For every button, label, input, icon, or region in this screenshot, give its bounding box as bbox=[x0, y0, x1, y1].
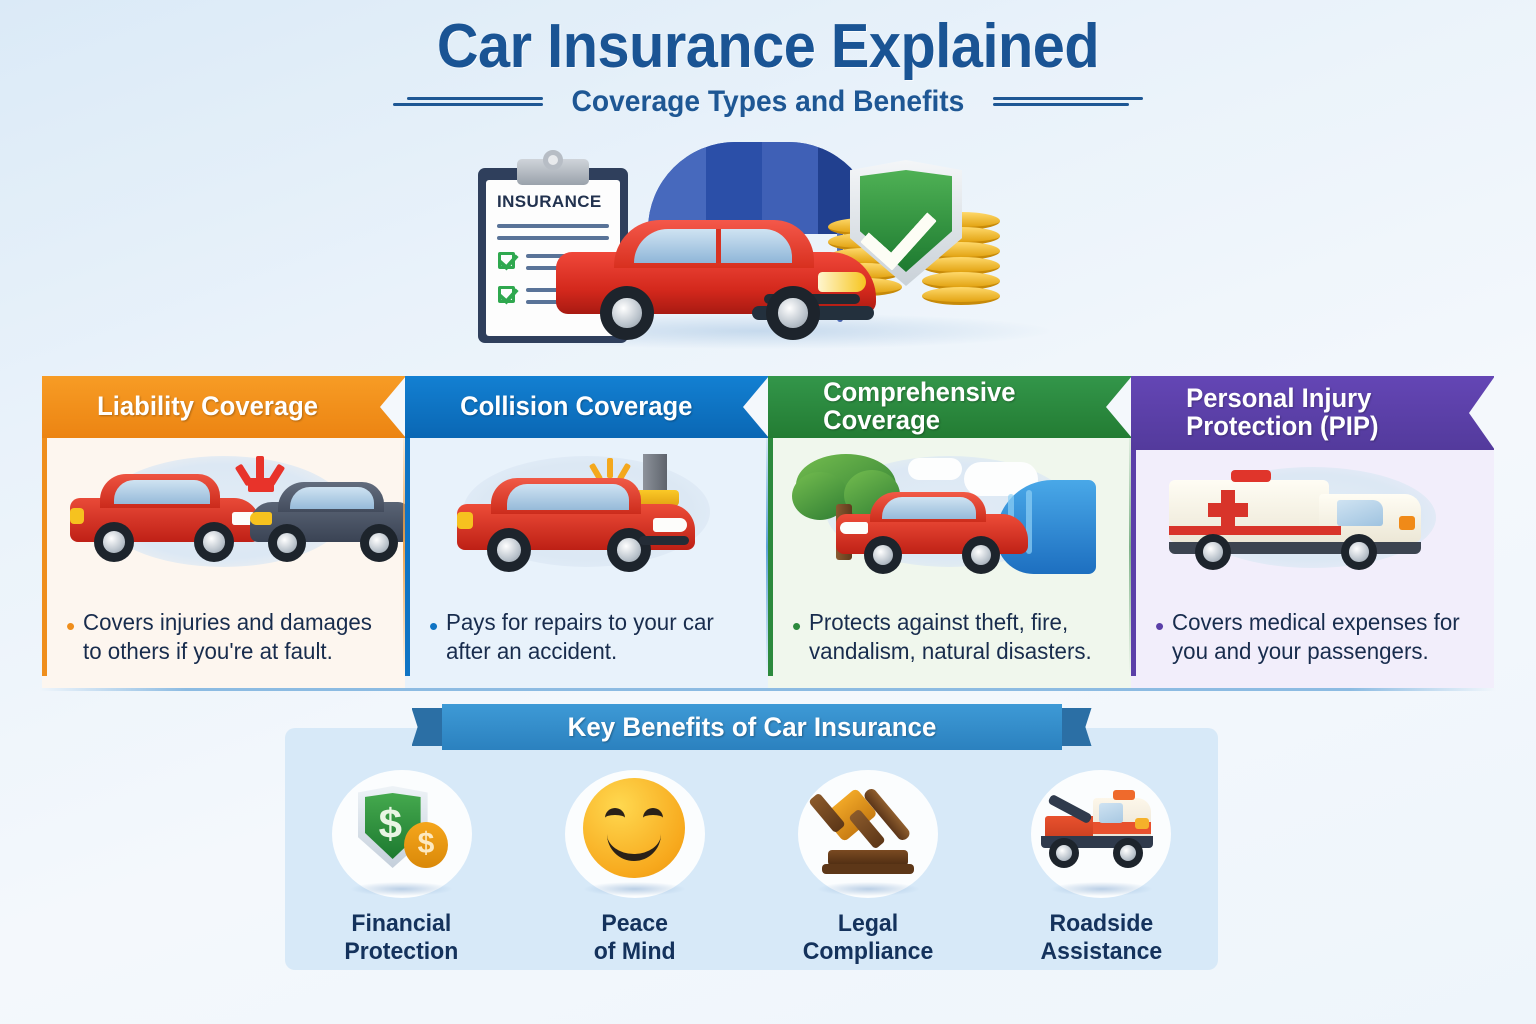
title-rule-left bbox=[393, 97, 543, 107]
coverage-cards-row: Liability Coverage bbox=[42, 376, 1494, 688]
benefit-label-line2: Assistance bbox=[1041, 938, 1163, 966]
bullet-dot: • bbox=[66, 608, 75, 667]
subtitle-row: Coverage Types and Benefits bbox=[0, 85, 1536, 119]
card-description: Covers injuries and damages to others if… bbox=[83, 608, 382, 667]
coverage-card-comprehensive[interactable]: Comprehensive Coverage bbox=[768, 376, 1131, 688]
benefit-label-line1: Legal bbox=[803, 910, 934, 938]
card-bullet-row: • Protects against theft, fire, vandalis… bbox=[792, 608, 1117, 667]
benefit-item-roadside-assistance[interactable]: Roadside Assistance bbox=[985, 770, 1218, 967]
bullet-dot: • bbox=[1155, 608, 1164, 667]
benefit-label-line1: Financial bbox=[345, 910, 459, 938]
benefit-label: Peace of Mind bbox=[594, 910, 676, 967]
coverage-card-collision[interactable]: Collision Coverage bbox=[405, 376, 768, 688]
benefit-label-line2: of Mind bbox=[594, 938, 676, 966]
smiley-face-icon bbox=[565, 770, 705, 898]
benefit-label-line1: Peace bbox=[594, 910, 676, 938]
ambulance-illustration bbox=[1141, 460, 1484, 580]
title-rule-right bbox=[993, 97, 1143, 107]
key-benefits-panel: Key Benefits of Car Insurance $ $ Financ… bbox=[285, 728, 1218, 970]
ambulance-shape bbox=[1169, 474, 1427, 568]
card-description: Pays for repairs to your car after an ac… bbox=[446, 608, 745, 667]
card-bullet-row: • Pays for repairs to your car after an … bbox=[429, 608, 754, 667]
bullet-dot: • bbox=[429, 608, 438, 667]
card-ribbon-collision: Collision Coverage bbox=[405, 376, 768, 438]
benefit-label: Roadside Assistance bbox=[1041, 910, 1163, 967]
card-ribbon-pip: Personal Injury Protection (PIP) bbox=[1131, 376, 1494, 450]
benefit-label-line1: Roadside bbox=[1041, 910, 1163, 938]
header-block: Car Insurance Explained Coverage Types a… bbox=[0, 14, 1536, 119]
benefit-label-line2: Protection bbox=[345, 938, 459, 966]
page-title: Car Insurance Explained bbox=[54, 14, 1482, 79]
shield-dollar-icon: $ $ bbox=[332, 770, 472, 898]
infographic-canvas: Car Insurance Explained Coverage Types a… bbox=[0, 0, 1536, 1024]
green-shield-check-icon bbox=[850, 160, 962, 286]
benefits-grid: $ $ Financial Protection Peac bbox=[285, 770, 1218, 967]
card-title: Personal Injury Protection (PIP) bbox=[1131, 385, 1476, 440]
section-divider bbox=[40, 688, 1496, 691]
card-ribbon-comprehensive: Comprehensive Coverage bbox=[768, 376, 1131, 438]
card-ribbon-liability: Liability Coverage bbox=[42, 376, 405, 438]
gavel-icon bbox=[798, 770, 938, 898]
card-title: Collision Coverage bbox=[405, 393, 692, 421]
car-hitting-pole-illustration bbox=[415, 448, 758, 580]
benefit-label-line2: Compliance bbox=[803, 938, 934, 966]
benefit-label: Legal Compliance bbox=[803, 910, 934, 967]
card-bullet-row: • Covers injuries and damages to others … bbox=[66, 608, 391, 667]
benefit-label: Financial Protection bbox=[345, 910, 459, 967]
coverage-card-liability[interactable]: Liability Coverage bbox=[42, 376, 405, 688]
card-description: Covers medical expenses for you and your… bbox=[1172, 608, 1471, 667]
red-car-icon bbox=[556, 220, 876, 338]
red-car-shape bbox=[70, 474, 260, 558]
benefits-banner-title: Key Benefits of Car Insurance bbox=[425, 704, 1078, 750]
card-title: Liability Coverage bbox=[42, 393, 318, 421]
card-title: Comprehensive Coverage bbox=[768, 379, 1113, 434]
red-car-shape bbox=[457, 478, 695, 564]
benefit-item-financial-protection[interactable]: $ $ Financial Protection bbox=[285, 770, 518, 967]
cloud-icon bbox=[908, 458, 962, 480]
key-benefits-banner: Key Benefits of Car Insurance bbox=[412, 704, 1092, 750]
two-cars-collision-illustration bbox=[52, 448, 395, 580]
page-subtitle: Coverage Types and Benefits bbox=[572, 85, 965, 119]
clipboard-title: INSURANCE bbox=[497, 192, 602, 212]
red-car-shape bbox=[836, 492, 1028, 566]
hero-illustration: INSURANCE bbox=[430, 140, 1090, 355]
card-bullet-row: • Covers medical expenses for you and yo… bbox=[1155, 608, 1480, 667]
card-description: Protects against theft, fire, vandalism,… bbox=[809, 608, 1108, 667]
dark-car-shape bbox=[250, 482, 410, 558]
coverage-card-pip[interactable]: Personal Injury Protection (PIP) bbox=[1131, 376, 1494, 688]
tow-truck-icon bbox=[1031, 770, 1171, 898]
benefit-item-peace-of-mind[interactable]: Peace of Mind bbox=[518, 770, 751, 967]
bullet-dot: • bbox=[792, 608, 801, 667]
car-tree-flood-illustration bbox=[778, 448, 1121, 580]
benefit-item-legal-compliance[interactable]: Legal Compliance bbox=[752, 770, 985, 967]
